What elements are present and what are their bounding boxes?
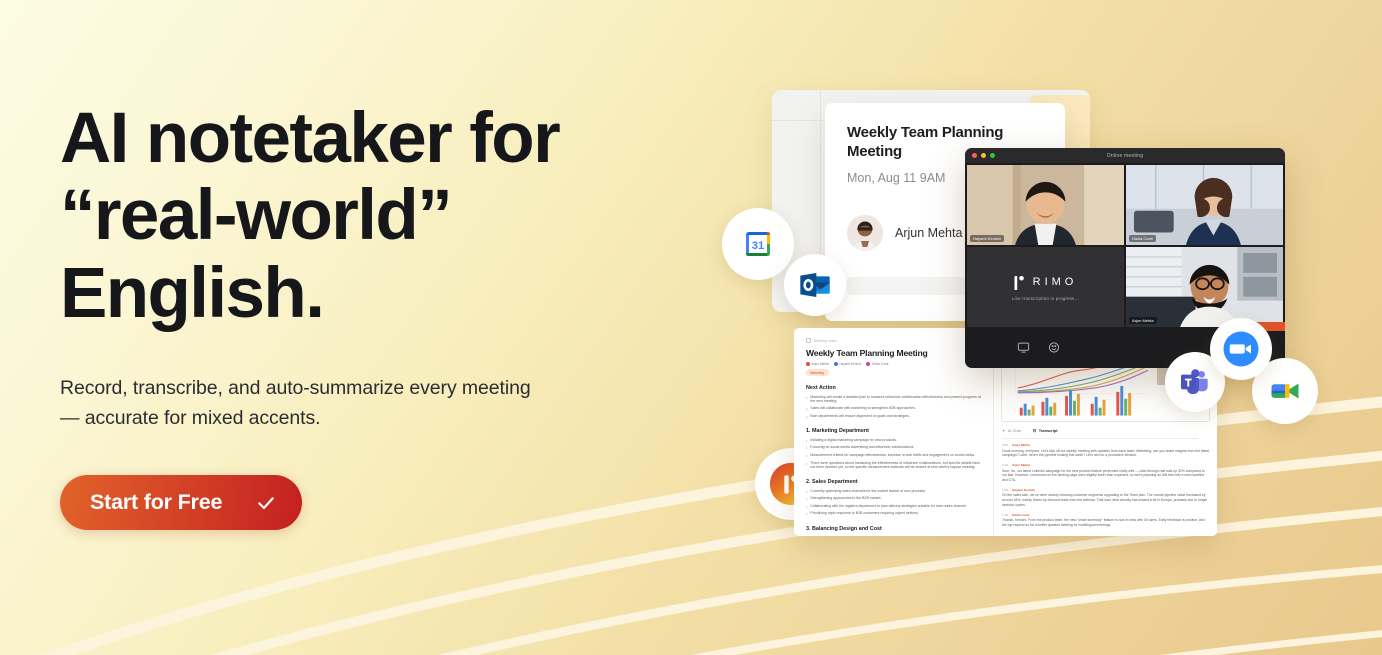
rimo-wordmark: RIMO — [1033, 276, 1078, 288]
list-item-text: Marketing will create a detailed plan to… — [810, 395, 981, 405]
list-item-text: Sales will collaborate with marketing to… — [810, 406, 915, 411]
notes-bullet-list: Marketing will create a detailed plan to… — [806, 395, 981, 420]
participant-video-2 — [1126, 165, 1283, 245]
transcript-entry-header: 0:22Arjun Mehta — [1002, 463, 1210, 467]
list-item: Initiating a digital marketing campaign … — [806, 438, 981, 443]
notes-tag-row: Marketing — [806, 369, 981, 376]
notes-section: 1. Marketing DepartmentInitiating a digi… — [806, 428, 981, 470]
notes-section: 2. Sales DepartmentCurrently optimizing … — [806, 479, 981, 517]
notes-section-heading: Next Action — [806, 385, 981, 391]
participant-name: Giulia Conti — [872, 362, 888, 366]
cta-label: Start for Free — [90, 490, 222, 515]
transcript-timestamp: 0:00 — [1002, 443, 1008, 447]
transcript-text: Good morning, everyone. Let's kick off o… — [1002, 449, 1210, 459]
hero-copy-column: AI notetaker for “real-world” English. R… — [60, 100, 680, 530]
list-item-text: There were questions about measuring the… — [810, 461, 981, 471]
participant-avatar-dot — [866, 362, 870, 366]
microsoft-teams-icon — [1179, 366, 1211, 398]
list-item: Both departments will ensure alignment o… — [806, 414, 981, 419]
participant-avatar-dot — [806, 362, 810, 366]
transcription-status: Live transcription in progress... — [1012, 296, 1079, 301]
rimo-lockup: RIMO — [1014, 274, 1078, 291]
participant-tile-2[interactable]: Giulia Conti — [1126, 165, 1283, 245]
transcript-entry-header: 1:05Hayami Kenichi — [1002, 488, 1210, 492]
notes-participants: Arjun MehtaHayami KenichiGiulia Conti — [806, 362, 981, 366]
share-screen-icon[interactable] — [1017, 341, 1030, 354]
notes-section-heading: 3. Balancing Design and Cost — [806, 526, 981, 532]
zoom-icon — [1221, 329, 1261, 369]
tab-transcript[interactable]: ☷Transcript — [1033, 428, 1058, 433]
tab-ai-chat[interactable]: ✦AI Chat — [1002, 428, 1021, 433]
participant-name: Hayami Kenichi — [839, 362, 861, 366]
calendar-attendee-name: Arjun Mehta — [895, 226, 962, 240]
list-item-text: Measurement criteria for campaign effect… — [810, 453, 975, 458]
list-item: Measurement criteria for campaign effect… — [806, 453, 981, 458]
tab-label: AI Chat — [1008, 428, 1021, 433]
tab-label: Transcript — [1039, 428, 1058, 433]
notes-section-heading: 2. Sales Department — [806, 479, 981, 485]
breadcrumb-label: Meeting notes — [814, 339, 837, 343]
list-item-text: Initiating a digital marketing campaign … — [810, 438, 896, 443]
notes-participant[interactable]: Hayami Kenichi — [834, 362, 862, 366]
avatar — [847, 215, 883, 251]
transcript-text: Thanks, Kenichi. From the product team, … — [1002, 518, 1210, 528]
product-collage: Weekly Team Planning Meeting Mon, Aug 11… — [700, 0, 1382, 655]
participant-name-3: Arjun Mehta — [1129, 317, 1157, 324]
window-title-bar: Online meeting — [965, 148, 1285, 163]
zoom-badge[interactable] — [1210, 318, 1272, 380]
list-item-text: Collaborating with the logistics departm… — [810, 504, 966, 509]
list-item: Strengthening approaches to the B2B mark… — [806, 496, 981, 501]
notes-participant[interactable]: Giulia Conti — [866, 362, 888, 366]
participant-name-1: Hayami Kenichi — [970, 235, 1004, 242]
rimo-mark-icon — [1014, 274, 1027, 291]
list-item-text: Strengthening approaches to the B2B mark… — [810, 496, 881, 501]
start-for-free-button[interactable]: Start for Free — [60, 475, 302, 530]
reaction-icon[interactable] — [1048, 341, 1061, 354]
transcript-entry-header: 0:00Arjun Mehta — [1002, 443, 1210, 447]
sparkle-icon: ✦ — [1002, 428, 1005, 433]
list-item-text: Focusing on social media advertising and… — [810, 445, 914, 450]
transcript-icon: ☷ — [1033, 428, 1037, 433]
notes-section: 3. Balancing Design and Cost — [806, 526, 981, 532]
transcript-entry[interactable]: 0:22Arjun MehtaSure. So, our latest Link… — [1002, 463, 1210, 483]
notes-participant[interactable]: Arjun Mehta — [806, 362, 829, 366]
page-title: AI notetaker for “real-world” English. — [60, 100, 680, 332]
participant-tile-1[interactable]: Hayami Kenichi — [967, 165, 1124, 245]
google-calendar-icon: 31 — [740, 226, 776, 262]
list-item: There were questions about measuring the… — [806, 461, 981, 471]
list-item-text: Both departments will ensure alignment o… — [810, 414, 909, 419]
tag-label: Marketing — [810, 371, 824, 375]
check-icon — [256, 493, 276, 513]
outlook-icon — [799, 269, 831, 301]
participant-name-2: Giulia Conti — [1129, 235, 1156, 242]
list-item-text: Prioritizing rapid response to B2B custo… — [810, 511, 918, 516]
participant-grid: Hayami Kenichi Giulia Conti — [965, 163, 1285, 329]
notes-bullet-list: Initiating a digital marketing campaign … — [806, 438, 981, 470]
breadcrumb[interactable]: Meeting notes — [806, 338, 981, 343]
list-item: Prioritizing rapid response to B2B custo… — [806, 511, 981, 516]
list-item: Currently optimizing sales channels for … — [806, 489, 981, 494]
notes-title: Weekly Team Planning Meeting — [806, 348, 981, 358]
transcript-speaker: Giulia Conti — [1012, 513, 1029, 517]
hero-subheadline: Record, transcribe, and auto-summarize e… — [60, 374, 680, 433]
participant-video-1 — [967, 165, 1124, 245]
transcript-entry[interactable]: 1:05Hayami KenichiOn the sales side, we'… — [1002, 488, 1210, 508]
list-item: Collaborating with the logistics departm… — [806, 504, 981, 509]
list-item: Focusing on social media advertising and… — [806, 445, 981, 450]
transcript-entry[interactable]: 1:48Giulia ContiThanks, Kenichi. From th… — [1002, 513, 1210, 528]
transcript-text: Sure. So, our latest LinkedIn campaign f… — [1002, 469, 1210, 483]
google-calendar-badge[interactable]: 31 — [722, 208, 794, 280]
window-title: Online meeting — [965, 153, 1285, 159]
transcript-entry[interactable]: 0:00Arjun MehtaGood morning, everyone. L… — [1002, 443, 1210, 458]
notes-bullet-list: Currently optimizing sales channels for … — [806, 489, 981, 517]
participant-avatar-dot — [834, 362, 838, 366]
rimo-branding-tile: RIMO Live transcription in progress... — [967, 247, 1124, 327]
notes-section-heading: 1. Marketing Department — [806, 428, 981, 434]
tab-divider — [1002, 438, 1198, 439]
transcript-speaker: Arjun Mehta — [1012, 463, 1030, 467]
list-item: Marketing will create a detailed plan to… — [806, 395, 981, 405]
transcript-list: 0:00Arjun MehtaGood morning, everyone. L… — [1002, 443, 1210, 533]
participant-video-3 — [1126, 247, 1283, 327]
transcript-entry-header: 1:48Giulia Conti — [1002, 513, 1210, 517]
transcript-speaker: Arjun Mehta — [1012, 443, 1030, 447]
notes-sections: Next ActionMarketing will create a detai… — [806, 385, 981, 532]
notes-section: Next ActionMarketing will create a detai… — [806, 385, 981, 419]
transcript-timestamp: 1:05 — [1002, 488, 1008, 492]
transcript-timestamp: 1:48 — [1002, 513, 1008, 517]
transcript-timestamp: 0:22 — [1002, 463, 1008, 467]
notes-panel: Meeting notes Weekly Team Planning Meeti… — [794, 328, 994, 536]
participant-tile-3[interactable]: Arjun Mehta — [1126, 247, 1283, 327]
status-badge[interactable]: Marketing — [806, 369, 829, 376]
google-meet-icon — [1267, 373, 1303, 409]
list-item: Sales will collaborate with marketing to… — [806, 406, 981, 411]
transcript-text: On the sales side, we've been closely fo… — [1002, 493, 1210, 507]
svg-text:31: 31 — [752, 240, 765, 252]
transcript-speaker: Hayami Kenichi — [1012, 488, 1035, 492]
outlook-badge[interactable] — [784, 254, 846, 316]
transcript-tabs[interactable]: ✦AI Chat☷Transcript — [1002, 428, 1058, 436]
list-item-text: Currently optimizing sales channels for … — [810, 489, 926, 494]
participant-name: Arjun Mehta — [812, 362, 829, 366]
document-icon — [806, 338, 811, 343]
